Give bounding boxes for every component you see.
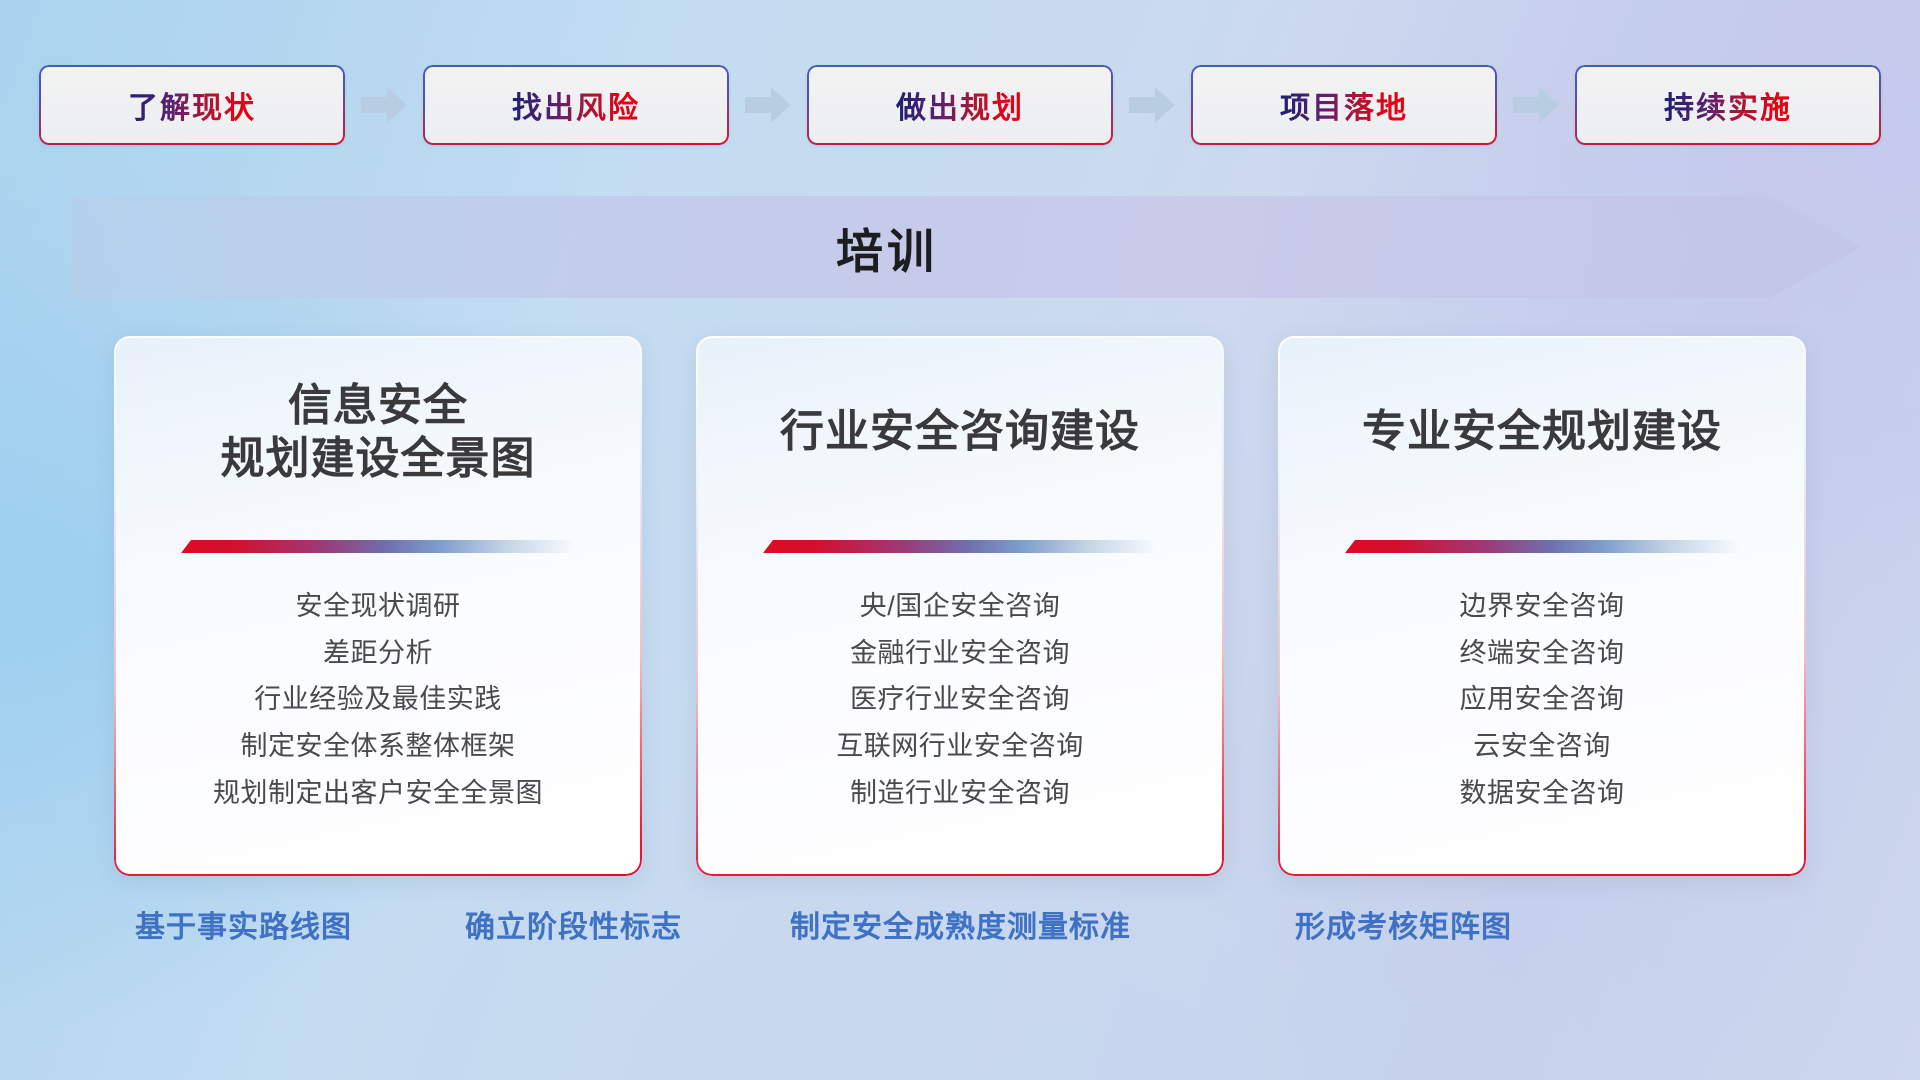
card-item-list: 安全现状调研 差距分析 行业经验及最佳实践 制定安全体系整体框架 规划制定出客户… [140, 553, 616, 816]
list-item: 数据安全咨询 [1460, 772, 1625, 816]
card-divider [1345, 540, 1739, 553]
list-item: 央/国企安全咨询 [860, 585, 1061, 629]
list-item: 规划制定出客户安全全景图 [213, 772, 543, 816]
card-1[interactable]: 行业安全咨询建设 央/国企安全咨询 金融行业安全咨询 医疗行业安全咨询 互联网行… [696, 336, 1224, 876]
step-button-4[interactable]: 持续实施 [1575, 65, 1881, 145]
list-item: 制定安全体系整体框架 [241, 725, 516, 769]
card-0[interactable]: 信息安全 规划建设全景图 安全现状调研 差距分析 行业经验及最佳实践 制定安全体… [114, 336, 642, 876]
step-button-1[interactable]: 找出风险 [423, 65, 729, 145]
footer-label-row: 基于事实路线图 确立阶段性标志 制定安全成熟度测量标准 形成考核矩阵图 [0, 902, 1920, 962]
step-label: 做出规划 [896, 83, 1024, 127]
step-button-2[interactable]: 做出规划 [807, 65, 1113, 145]
footer-label-0: 基于事实路线图 [135, 902, 352, 946]
card-title: 信息安全 规划建设全景图 [221, 380, 536, 486]
list-item: 应用安全咨询 [1460, 678, 1625, 722]
card-row: 信息安全 规划建设全景图 安全现状调研 差距分析 行业经验及最佳实践 制定安全体… [0, 336, 1920, 876]
list-item: 行业经验及最佳实践 [254, 678, 502, 722]
card-2[interactable]: 专业安全规划建设 边界安全咨询 终端安全咨询 应用安全咨询 云安全咨询 数据安全… [1278, 336, 1806, 876]
list-item: 金融行业安全咨询 [850, 632, 1070, 676]
banner-title: 培训 [72, 196, 1862, 298]
training-banner: 培训 [72, 196, 1862, 298]
right-arrow-icon [361, 85, 407, 125]
list-item: 终端安全咨询 [1460, 632, 1625, 676]
right-arrow-icon [745, 85, 791, 125]
card-divider [763, 540, 1157, 553]
list-item: 安全现状调研 [296, 585, 461, 629]
list-item: 边界安全咨询 [1460, 585, 1625, 629]
right-arrow-icon [1129, 85, 1175, 125]
step-label: 了解现状 [128, 83, 256, 127]
footer-label-1: 确立阶段性标志 [465, 902, 682, 946]
card-title: 专业安全规划建设 [1362, 380, 1722, 459]
step-button-0[interactable]: 了解现状 [39, 65, 345, 145]
card-title: 行业安全咨询建设 [780, 380, 1140, 459]
right-arrow-icon [1513, 85, 1559, 125]
step-label: 持续实施 [1664, 83, 1792, 127]
card-divider [181, 540, 575, 553]
step-button-3[interactable]: 项目落地 [1191, 65, 1497, 145]
list-item: 云安全咨询 [1473, 725, 1611, 769]
process-step-row: 了解现状 找出风险 做出规划 项目落地 持续实施 [0, 62, 1920, 148]
step-label: 项目落地 [1280, 83, 1408, 127]
card-item-list: 边界安全咨询 终端安全咨询 应用安全咨询 云安全咨询 数据安全咨询 [1304, 553, 1780, 816]
card-item-list: 央/国企安全咨询 金融行业安全咨询 医疗行业安全咨询 互联网行业安全咨询 制造行… [722, 553, 1198, 816]
list-item: 互联网行业安全咨询 [836, 725, 1084, 769]
footer-label-3: 形成考核矩阵图 [1295, 902, 1512, 946]
step-label: 找出风险 [512, 83, 640, 127]
list-item: 医疗行业安全咨询 [850, 678, 1070, 722]
list-item: 差距分析 [323, 632, 433, 676]
footer-label-2: 制定安全成熟度测量标准 [790, 902, 1131, 946]
list-item: 制造行业安全咨询 [850, 772, 1070, 816]
